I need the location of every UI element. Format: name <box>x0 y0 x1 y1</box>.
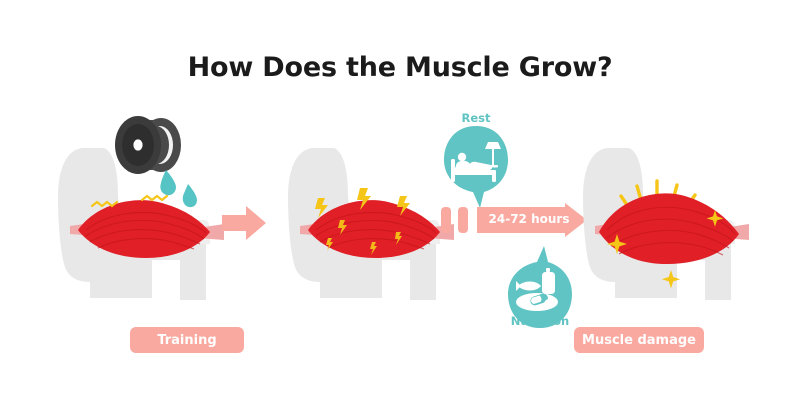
stage-label-text: Training <box>157 333 216 348</box>
infographic-canvas: How Does the Muscle Grow? <box>0 0 800 408</box>
sweat-drop-icon <box>160 170 197 207</box>
recovery-duration-group: 24-72 hours <box>441 203 586 237</box>
arm-svg <box>48 148 248 308</box>
dash-mark-2 <box>458 207 468 233</box>
stage-panel-supercompensation: Supercompensation (Muscle hypertrophy) <box>573 0 783 408</box>
rest-caption: Rest <box>440 111 512 125</box>
stage-label-training: Training <box>130 327 244 353</box>
nutrition-caption: Nutrition <box>500 314 580 328</box>
flow-arrow-1-icon <box>220 203 268 243</box>
dash-mark-1 <box>441 207 451 233</box>
arm-svg <box>573 148 773 308</box>
rest-bubble[interactable] <box>440 126 512 208</box>
arm-illustration-training <box>48 148 248 308</box>
arm-illustration-supercompensation <box>573 148 773 308</box>
flow-arrow-hours-icon <box>477 203 587 237</box>
